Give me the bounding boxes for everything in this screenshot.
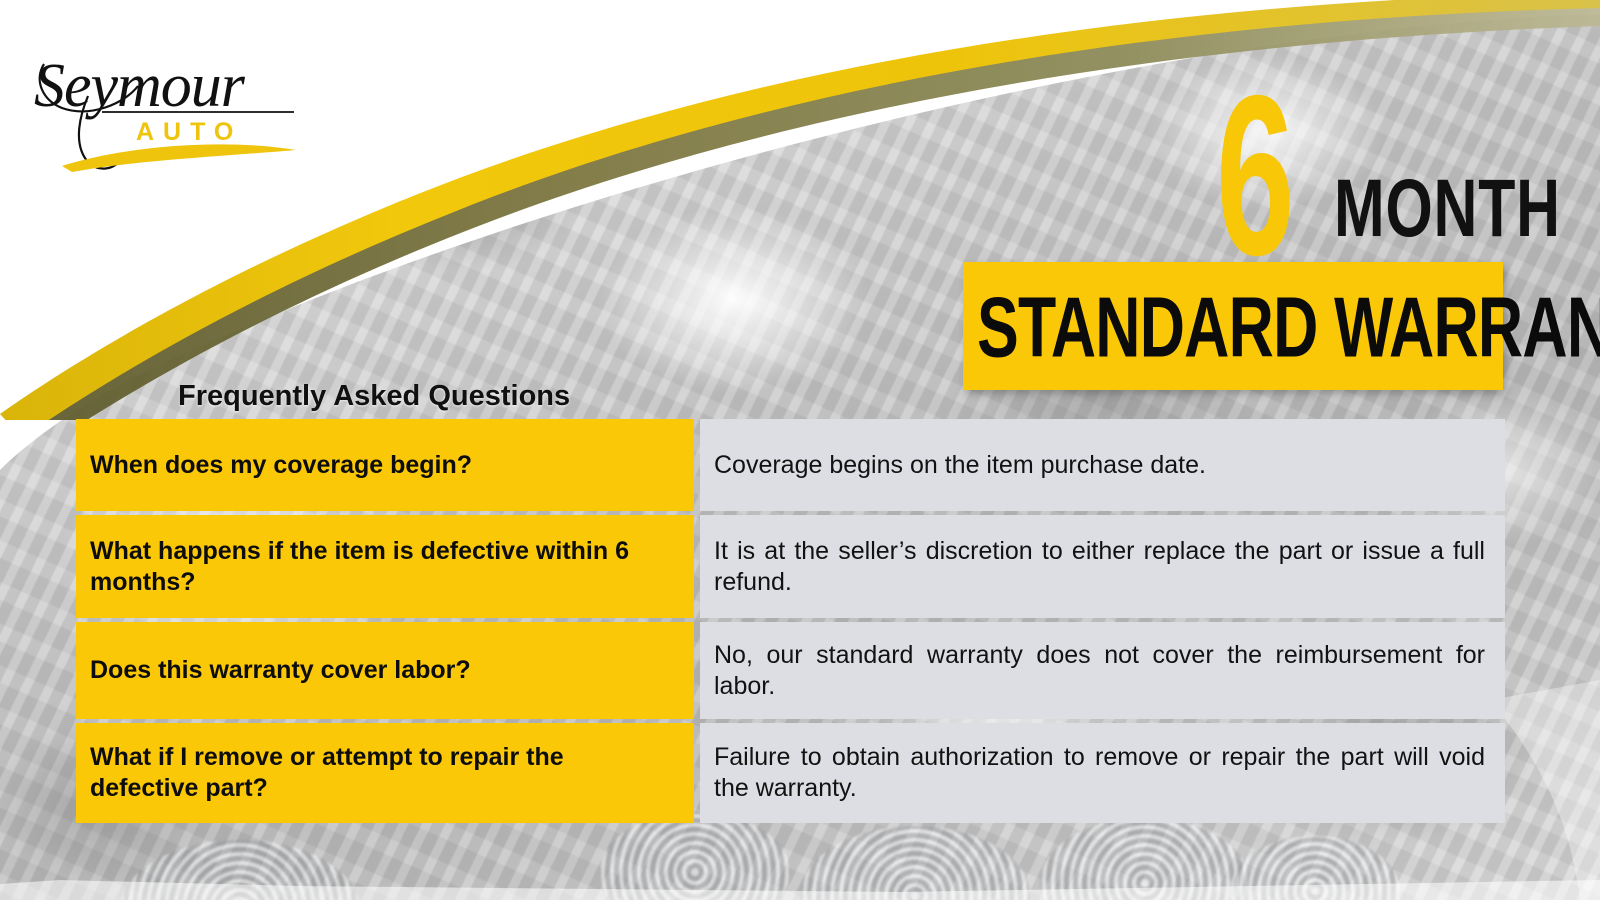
faq-answer-text: Failure to obtain authorization to remov… — [714, 742, 1485, 804]
faq-question-text: What happens if the item is defective wi… — [90, 536, 678, 598]
faq-answer-text: No, our standard warranty does not cover… — [714, 640, 1485, 702]
faq-answer-text: Coverage begins on the item purchase dat… — [714, 450, 1485, 481]
standard-warranty-label: STANDARD WARRANTY — [977, 284, 1600, 370]
seymour-auto-logo: Seymour AUTO — [28, 20, 328, 180]
faq-answer-cell: Failure to obtain authorization to remov… — [700, 723, 1505, 823]
standard-warranty-banner: STANDARD WARRANTY — [963, 262, 1503, 390]
faq-section-title: Frequently Asked Questions — [178, 379, 570, 413]
faq-question-cell: Does this warranty cover labor? — [76, 622, 694, 719]
logo-auto-wordmark: AUTO — [136, 118, 242, 146]
faq-answer-cell: It is at the seller’s discretion to eith… — [700, 515, 1505, 618]
faq-question-cell: When does my coverage begin? — [76, 419, 694, 511]
duration-number: 6 — [1216, 62, 1291, 290]
faq-question-text: What if I remove or attempt to repair th… — [90, 742, 678, 804]
warranty-slide: Seymour AUTO 6 MONTH STANDARD WARRANTY F… — [0, 0, 1600, 900]
faq-question-cell: What happens if the item is defective wi… — [76, 515, 694, 618]
faq-question-cell: What if I remove or attempt to repair th… — [76, 723, 694, 823]
faq-question-text: Does this warranty cover labor? — [90, 655, 471, 686]
table-row: When does my coverage begin? Coverage be… — [76, 419, 1505, 511]
faq-answer-cell: Coverage begins on the item purchase dat… — [700, 419, 1505, 511]
table-row: Does this warranty cover labor? No, our … — [76, 622, 1505, 719]
faq-table: When does my coverage begin? Coverage be… — [76, 419, 1505, 823]
faq-question-text: When does my coverage begin? — [90, 450, 472, 481]
faq-answer-text: It is at the seller’s discretion to eith… — [714, 536, 1485, 598]
faq-answer-cell: No, our standard warranty does not cover… — [700, 622, 1505, 719]
table-row: What happens if the item is defective wi… — [76, 515, 1505, 618]
table-row: What if I remove or attempt to repair th… — [76, 723, 1505, 823]
duration-unit: MONTH — [1334, 168, 1561, 250]
